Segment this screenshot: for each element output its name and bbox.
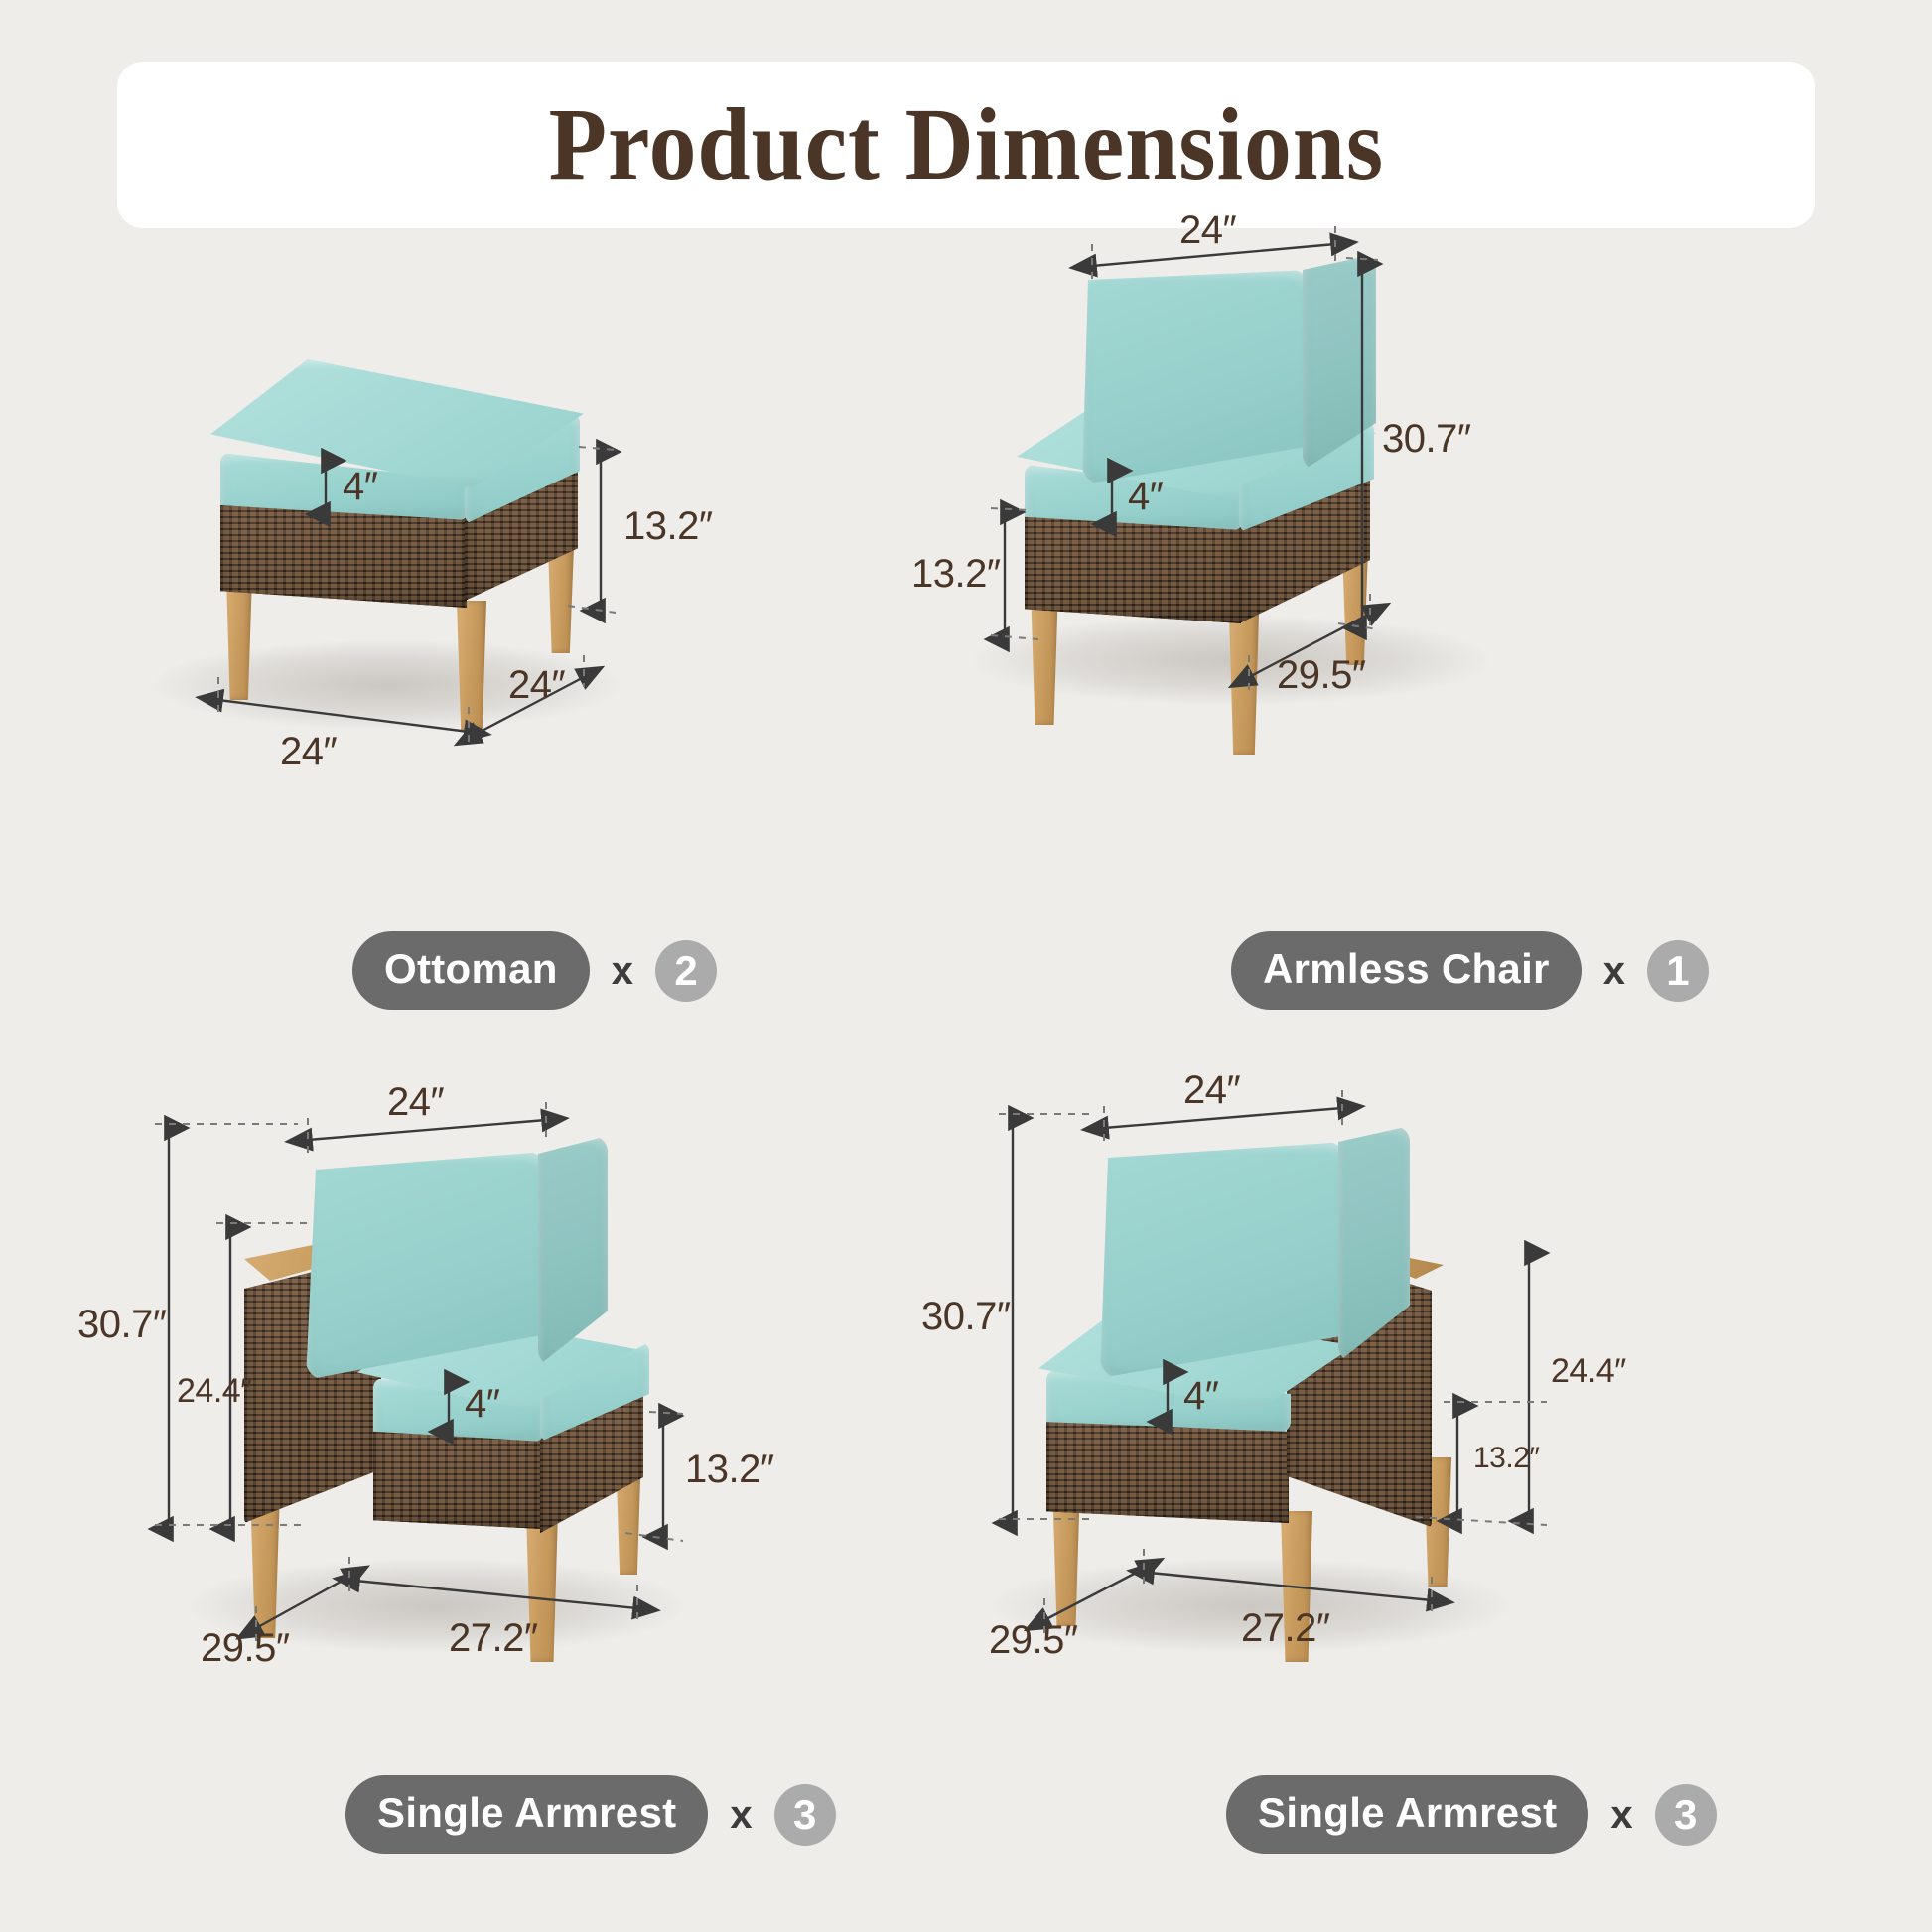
count-badge-ottoman: 2 — [655, 940, 717, 1002]
multiplier-symbol-single-armrest-left: x — [730, 1795, 752, 1835]
single-armrest-left-dim-depth: 29.5″ — [201, 1626, 290, 1671]
single-armrest-left-illustration: 24″ 30.7″ 24.4″ 4″ 13.2″ 29.5″ 27.2″ — [60, 1033, 953, 1886]
product-panel-single-armrest-left: 24″ 30.7″ 24.4″ 4″ 13.2″ 29.5″ 27.2″ — [60, 1033, 953, 1886]
armless-chair-dim-seat-height: 13.2″ — [911, 552, 1001, 597]
multiplier-symbol-single-armrest-right: x — [1610, 1795, 1632, 1835]
armless-chair-dim-width: 24″ — [1179, 208, 1236, 253]
multiplier-symbol-ottoman: x — [612, 951, 633, 991]
product-dimensions-page: Product Dimensions — [0, 0, 1932, 1932]
product-name-badge-ottoman: Ottoman — [352, 931, 590, 1010]
armless-chair-dim-overall-height: 30.7″ — [1382, 417, 1471, 462]
single-armrest-right-dim-base-width: 27.2″ — [1241, 1606, 1330, 1651]
single-armrest-right-dim-overall-height: 30.7″ — [921, 1295, 1011, 1339]
single-armrest-left-dim-arm-height: 24.4″ — [177, 1372, 252, 1411]
caption-ottoman: Ottoman x 2 — [352, 931, 717, 1010]
armless-chair-dim-cushion-thickness: 4″ — [1128, 475, 1163, 519]
single-armrest-right-dim-cushion-thickness: 4″ — [1183, 1374, 1218, 1419]
product-panel-single-armrest-right: 24″ 30.7″ 24.4″ 4″ 13.2″ 29.5″ 27.2″ — [953, 1033, 1906, 1886]
multiplier-symbol-armless-chair: x — [1603, 951, 1625, 991]
caption-single-armrest-right: Single Armrest x 3 — [1226, 1775, 1717, 1854]
single-armrest-left-dim-seat-height: 13.2″ — [685, 1448, 774, 1492]
ottoman-dim-depth: 24″ — [508, 663, 565, 708]
product-name-badge-armless-chair: Armless Chair — [1231, 931, 1582, 1010]
product-panel-armless-chair: 24″ 30.7″ 4″ 13.2″ 29.5″ — [953, 218, 1906, 1033]
count-badge-single-armrest-left: 3 — [774, 1784, 836, 1846]
count-badge-single-armrest-right: 3 — [1655, 1784, 1717, 1846]
single-armrest-left-dim-base-width: 27.2″ — [449, 1616, 538, 1661]
single-armrest-left-dim-cushion-thickness: 4″ — [465, 1382, 499, 1427]
single-armrest-right-dim-arm-height: 24.4″ — [1551, 1352, 1626, 1391]
single-armrest-right-illustration: 24″ 30.7″ 24.4″ 4″ 13.2″ 29.5″ 27.2″ — [953, 1033, 1906, 1886]
ottoman-illustration: 4″ 13.2″ 24″ 24″ — [60, 248, 953, 1033]
single-armrest-left-dim-overall-height: 30.7″ — [77, 1303, 167, 1347]
armless-chair-illustration: 24″ 30.7″ 4″ 13.2″ 29.5″ — [953, 218, 1906, 1033]
single-armrest-right-dim-depth: 29.5″ — [989, 1618, 1078, 1663]
count-badge-armless-chair: 1 — [1647, 940, 1709, 1002]
ottoman-leg-back-right — [548, 546, 574, 653]
single-armrest-right-dim-width: 24″ — [1183, 1068, 1240, 1113]
title-banner: Product Dimensions — [117, 62, 1815, 228]
single-armrest-left-dim-width: 24″ — [387, 1080, 444, 1125]
ottoman-leg-front-right — [457, 601, 486, 730]
ottoman-leg-front-left — [226, 576, 252, 700]
armless-chair-leg-front-right — [1229, 614, 1259, 755]
product-name-badge-single-armrest-left: Single Armrest — [345, 1775, 708, 1854]
ottoman-dim-width: 24″ — [280, 730, 337, 774]
single-armrest-right-dim-seat-height: 13.2″ — [1473, 1442, 1540, 1475]
ottoman-dimension-lines — [60, 248, 953, 1033]
product-name-badge-single-armrest-right: Single Armrest — [1226, 1775, 1588, 1854]
product-panel-ottoman: 4″ 13.2″ 24″ 24″ — [60, 248, 953, 1033]
caption-armless-chair: Armless Chair x 1 — [1231, 931, 1709, 1010]
caption-single-armrest-left: Single Armrest x 3 — [345, 1775, 836, 1854]
ottoman-dim-cushion-thickness: 4″ — [343, 465, 377, 509]
single-armrest-left-back-right — [538, 1136, 608, 1366]
armless-chair-dim-depth: 29.5″ — [1277, 653, 1366, 698]
page-title: Product Dimensions — [548, 93, 1383, 197]
ottoman-dim-seat-height: 13.2″ — [623, 504, 713, 549]
